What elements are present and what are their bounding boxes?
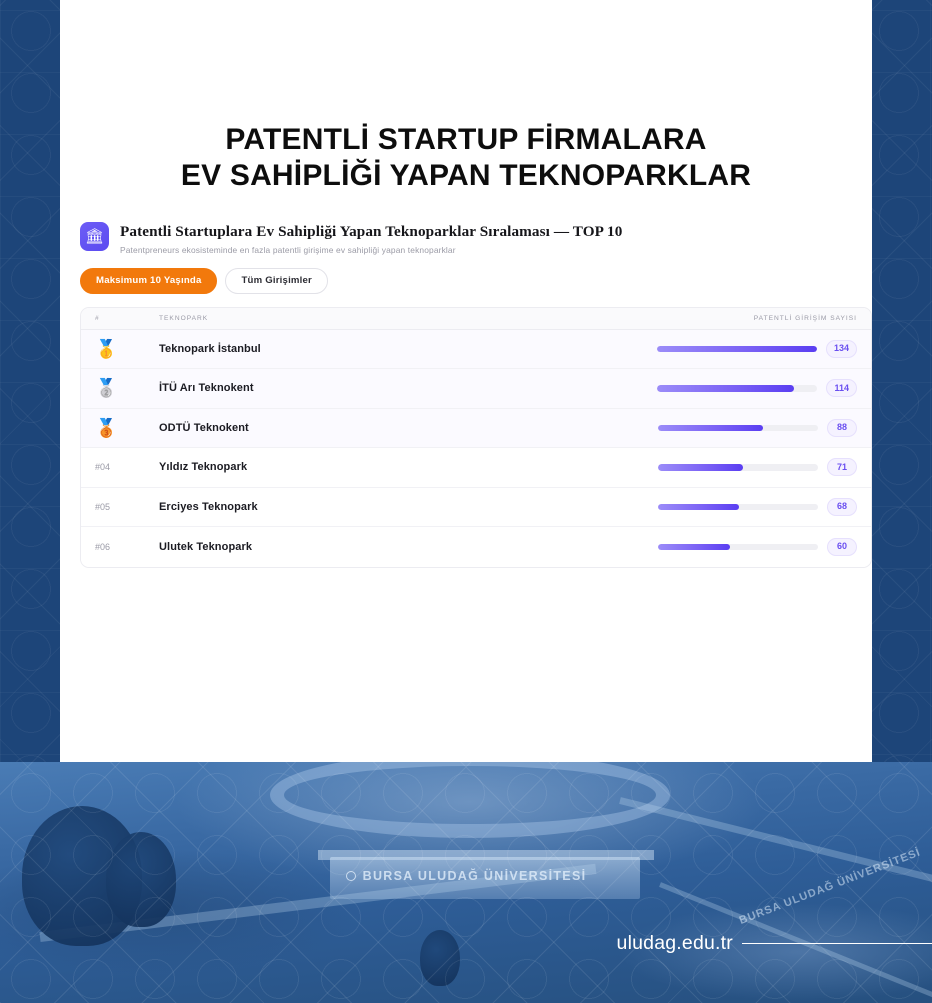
teknopark-name: İTÜ Arı Teknokent (159, 382, 636, 394)
bar-track (658, 464, 818, 471)
footer-url-text: uludag.edu.tr (617, 932, 742, 955)
rank-label: #06 (81, 542, 159, 552)
table-row[interactable]: 🥈İTÜ Arı Teknokent114 (81, 369, 871, 409)
bar-track (658, 425, 818, 432)
ranking-card-header: 🏛 Patentli Startuplara Ev Sahipliği Yapa… (80, 222, 872, 255)
bar-track (657, 346, 817, 353)
medal-icon: 🥈 (95, 378, 117, 398)
value-badge: 68 (827, 498, 857, 516)
table-header-row: # TEKNOPARK PATENTLİ GİRİŞİM SAYISI (81, 308, 871, 330)
value-cell: 60 (636, 538, 871, 556)
footer-url: uludag.edu.tr (0, 932, 932, 955)
campus-gate-sign: BURSA ULUDAĞ ÜNİVERSİTESİ (0, 869, 932, 883)
bar-fill (658, 504, 739, 511)
value-cell: 68 (636, 498, 871, 516)
teknopark-name: Erciyes Teknopark (159, 501, 636, 513)
column-header-name: TEKNOPARK (159, 315, 636, 322)
table-row[interactable]: 🥉ODTÜ Teknokent88 (81, 409, 871, 449)
bar-fill (658, 464, 743, 471)
campus-gate-sign-text: BURSA ULUDAĞ ÜNİVERSİTESİ (363, 869, 587, 883)
ranking-table: # TEKNOPARK PATENTLİ GİRİŞİM SAYISI 🥇Tek… (80, 307, 872, 568)
medal-icon: 🥇 (81, 340, 159, 358)
bar-fill (658, 425, 763, 432)
page-title-line-2: EV SAHİPLİĞİ YAPAN TEKNOPARKLAR (60, 158, 872, 194)
filter-chip-all-startups[interactable]: Tüm Girişimler (225, 268, 328, 294)
teknopark-name: ODTÜ Teknokent (159, 422, 636, 434)
value-cell: 134 (636, 340, 871, 358)
value-cell: 71 (636, 458, 871, 476)
value-badge: 114 (826, 379, 857, 397)
bar-track (657, 385, 817, 392)
table-row[interactable]: #05Erciyes Teknopark68 (81, 488, 871, 528)
bar-track (658, 504, 818, 511)
table-body: 🥇Teknopark İstanbul134🥈İTÜ Arı Teknokent… (81, 330, 871, 567)
medal-icon: 🥉 (95, 418, 117, 438)
poster-root: BURSA ULUDAĞ ÜNİVERSİTESİ BURSA ULUDAĞ Ü… (0, 0, 932, 1003)
footer-rule (742, 943, 932, 945)
value-badge: 60 (827, 538, 857, 556)
bar-fill (657, 385, 793, 392)
value-badge: 88 (827, 419, 857, 437)
medal-icon: 🥇 (95, 339, 117, 359)
medal-icon: 🥈 (81, 379, 159, 397)
bar-track (658, 544, 818, 551)
teknopark-name: Ulutek Teknopark (159, 541, 636, 553)
table-row[interactable]: 🥇Teknopark İstanbul134 (81, 330, 871, 370)
page-title-line-1: PATENTLİ STARTUP FİRMALARA (225, 123, 706, 156)
ranking-card-subtitle: Patentpreneurs ekosisteminde en fazla pa… (120, 245, 622, 255)
column-header-value: PATENTLİ GİRİŞİM SAYISI (636, 315, 871, 322)
filter-chip-max-10-years[interactable]: Maksimum 10 Yaşında (80, 268, 217, 294)
filter-chip-group: Maksimum 10 Yaşında Tüm Girişimler (80, 268, 872, 294)
content-panel: PATENTLİ STARTUP FİRMALARA EV SAHİPLİĞİ … (60, 0, 872, 762)
value-badge: 71 (827, 458, 857, 476)
bar-fill (657, 346, 817, 353)
value-cell: 114 (636, 379, 871, 397)
rank-label: #05 (81, 502, 159, 512)
value-cell: 88 (636, 419, 871, 437)
medal-icon: 🥉 (81, 419, 159, 437)
bank-building-icon: 🏛 (80, 222, 109, 251)
teknopark-name: Yıldız Teknopark (159, 461, 636, 473)
ranking-card-title: Patentli Startuplara Ev Sahipliği Yapan … (120, 223, 622, 241)
bar-fill (658, 544, 730, 551)
page-title: PATENTLİ STARTUP FİRMALARA EV SAHİPLİĞİ … (60, 122, 872, 194)
teknopark-name: Teknopark İstanbul (159, 343, 636, 355)
value-badge: 134 (826, 340, 857, 358)
ranking-card: 🏛 Patentli Startuplara Ev Sahipliği Yapa… (80, 222, 872, 568)
table-row[interactable]: #06Ulutek Teknopark60 (81, 527, 871, 567)
column-header-rank: # (81, 315, 159, 322)
rank-label: #04 (81, 462, 159, 472)
ranking-card-titles: Patentli Startuplara Ev Sahipliği Yapan … (120, 222, 622, 255)
table-row[interactable]: #04Yıldız Teknopark71 (81, 448, 871, 488)
university-emblem-icon (346, 871, 356, 881)
